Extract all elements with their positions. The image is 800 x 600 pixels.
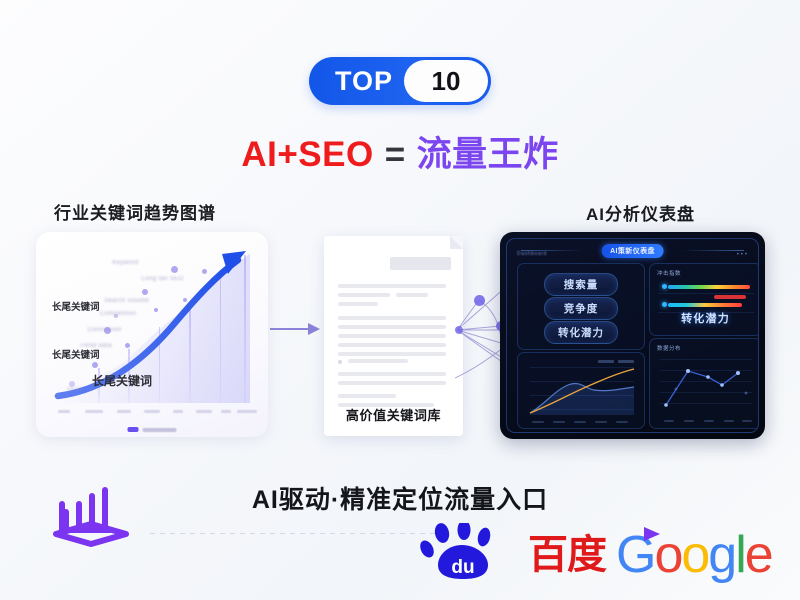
google-letter-o2: o — [681, 526, 708, 584]
pill-conversion-potential-label: 转化潜力 — [558, 325, 604, 340]
title-part-ai-seo: AI+SEO — [241, 135, 373, 174]
dashboard-line-chart — [660, 355, 754, 413]
dashboard-area-chart — [528, 363, 636, 415]
google-letter-l: l — [735, 526, 745, 584]
page-title: AI+SEO=流量王炸 — [0, 126, 800, 177]
pill-conversion-potential[interactable]: 转化潜力 — [544, 321, 618, 344]
right-section-caption: AI分析仪表盘 — [586, 200, 695, 225]
footer-tagline: AI驱动·精准定位流量入口 — [0, 480, 800, 516]
top-rank-badge: TOP 10 — [309, 57, 491, 105]
pill-competition[interactable]: 竞争度 — [544, 297, 618, 320]
trend-arrow-curve — [50, 244, 258, 404]
metric-pills-panel: 搜索量 竞争度 转化潜力 — [517, 263, 645, 350]
pill-search-volume[interactable]: 搜索量 — [544, 273, 618, 296]
left-section-caption: 行业关键词趋势图谱 — [54, 199, 216, 224]
trend-chart-plot: Keyword Long tail SEO Search volume Comp… — [50, 244, 258, 403]
partner-logos: du 百度 Google — [418, 519, 753, 585]
top-badge-number-pill: 10 — [404, 60, 488, 102]
trend-chart-card: Keyword Long tail SEO Search volume Comp… — [36, 232, 268, 437]
svg-text:du: du — [451, 557, 474, 578]
google-letter-e: e — [745, 526, 772, 584]
google-letter-g2: g — [708, 526, 735, 584]
keyword-document-card: 高价值关键词库 — [324, 236, 463, 436]
pill-search-volume-label: 搜索量 — [564, 277, 599, 292]
play-cursor-icon — [640, 525, 664, 543]
dashboard-menu-icon[interactable]: ••• — [737, 252, 749, 258]
data-distribution-panel: 数据分布 — [649, 338, 759, 429]
document-caption: 高价值关键词库 — [324, 405, 463, 424]
trend-keyword-label-2: 长尾关键词 — [52, 347, 100, 361]
trend-keyword-label-3: 长尾关键词 — [92, 372, 152, 389]
pill-competition-label: 竞争度 — [564, 301, 599, 316]
title-equals-sign: = — [385, 135, 406, 174]
baidu-logo-text: 百度 — [528, 535, 606, 575]
top-badge-label: TOP — [335, 68, 393, 95]
dashboard-screen: AI策新仪表盘 Dashboard ••• 搜索量 竞争度 转化潜力 — [506, 238, 759, 433]
title-part-traffic: 流量王炸 — [417, 135, 559, 174]
slide-canvas: TOP 10 AI+SEO=流量王炸 行业关键词趋势图谱 AI分析仪表盘 — [0, 0, 800, 600]
dashboard-brand-label: Dashboard — [517, 251, 547, 257]
trend-chart-legend — [128, 427, 177, 432]
impact-gauge-panel: 冲击指数 转化潜力 — [649, 263, 759, 336]
top-badge-number: 10 — [432, 68, 461, 94]
gauge-overlay-label: 转化潜力 — [681, 310, 730, 326]
trend-keyword-label-1: 长尾关键词 — [52, 299, 100, 313]
baidu-logo-icon: du — [418, 523, 526, 581]
trend-axis-ticks — [50, 410, 258, 419]
trend-area-panel — [517, 352, 645, 429]
ai-dashboard-card: AI策新仪表盘 Dashboard ••• 搜索量 竞争度 转化潜力 — [500, 232, 765, 439]
gauge-panel-title: 冲击指数 — [657, 269, 681, 277]
footer-divider — [150, 533, 450, 534]
document-header-block — [390, 257, 451, 270]
data-panel-title: 数据分布 — [657, 344, 681, 352]
flow-arrow-right-icon — [270, 320, 322, 338]
dashboard-title-badge: AI策新仪表盘 — [601, 244, 664, 258]
